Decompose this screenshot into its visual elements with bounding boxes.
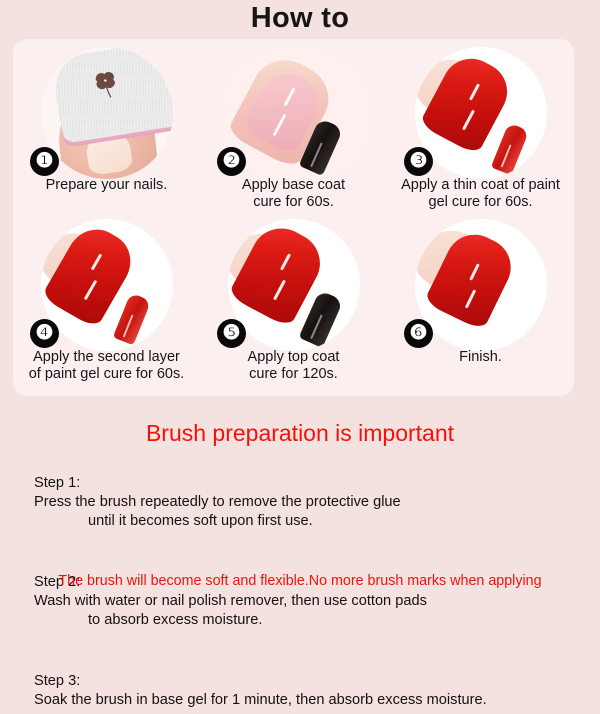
brush-prep-step-2-line1: Wash with water or nail polish remover, … (34, 593, 427, 609)
clover-icon (91, 67, 121, 100)
brush-applicator (491, 123, 529, 176)
brush-prep-step-1-label: Step 1: (34, 475, 80, 491)
step-image-3 (415, 47, 547, 179)
page-title: How to (0, 2, 600, 35)
how-to-panel: ❶ Prepare your nails. ❷ Apply base coat … (13, 39, 574, 396)
brush-applicator (113, 293, 151, 346)
step-caption-5: Apply top coat cure for 120s. (200, 349, 387, 382)
step-image-4 (41, 219, 173, 351)
step-card-4: ❹ Apply the second layer of paint gel cu… (13, 211, 200, 389)
step-badge-1: ❶ (30, 147, 59, 176)
brush-prep-step-2-line2: to absorb excess moisture. (34, 611, 574, 630)
step-badge-2: ❷ (217, 147, 246, 176)
step-image-5 (228, 219, 360, 351)
step-card-2: ❷ Apply base coat cure for 60s. (200, 39, 387, 217)
steps-grid: ❶ Prepare your nails. ❷ Apply base coat … (13, 39, 574, 396)
brush-prep-footer-note: The brush will become soft and flexible.… (0, 573, 600, 589)
step-card-6: ❻ Finish. (387, 211, 574, 389)
step-badge-3: ❸ (404, 147, 433, 176)
how-to-infographic: How to (0, 0, 600, 600)
step-caption-4: Apply the second layer of paint gel cure… (9, 349, 204, 382)
brush-prep-step-1: Step 1: Press the brush repeatedly to re… (34, 455, 574, 550)
brush-prep-step-3-label: Step 3: (34, 673, 80, 689)
step-badge-6: ❻ (404, 319, 433, 348)
step-image-1 (41, 47, 173, 179)
brush-prep-step-3-line1: Soak the brush in base gel for 1 minute,… (34, 692, 487, 708)
step-caption-1: Prepare your nails. (13, 177, 200, 194)
brush-prep-step-3: Step 3: Soak the brush in base gel for 1… (34, 653, 574, 710)
step-caption-6: Finish. (387, 349, 574, 366)
brush-prep-step-1-line2: until it becomes soft upon first use. (34, 512, 574, 531)
brush-prep-step-1-line1: Press the brush repeatedly to remove the… (34, 494, 401, 510)
step-image-6 (415, 219, 547, 351)
step-caption-2: Apply base coat cure for 60s. (200, 177, 387, 210)
step-caption-3: Apply a thin coat of paint gel cure for … (383, 177, 578, 210)
step-card-1: ❶ Prepare your nails. (13, 39, 200, 217)
brush-prep-title: Brush preparation is important (0, 420, 600, 447)
step-card-5: ❺ Apply top coat cure for 120s. (200, 211, 387, 389)
step-badge-4: ❹ (30, 319, 59, 348)
step-card-3: ❸ Apply a thin coat of paint gel cure fo… (387, 39, 574, 217)
brush-applicator (299, 290, 344, 348)
brush-prep-step-2: Step 2: Wash with water or nail polish r… (34, 554, 574, 649)
step-badge-5: ❺ (217, 319, 246, 348)
